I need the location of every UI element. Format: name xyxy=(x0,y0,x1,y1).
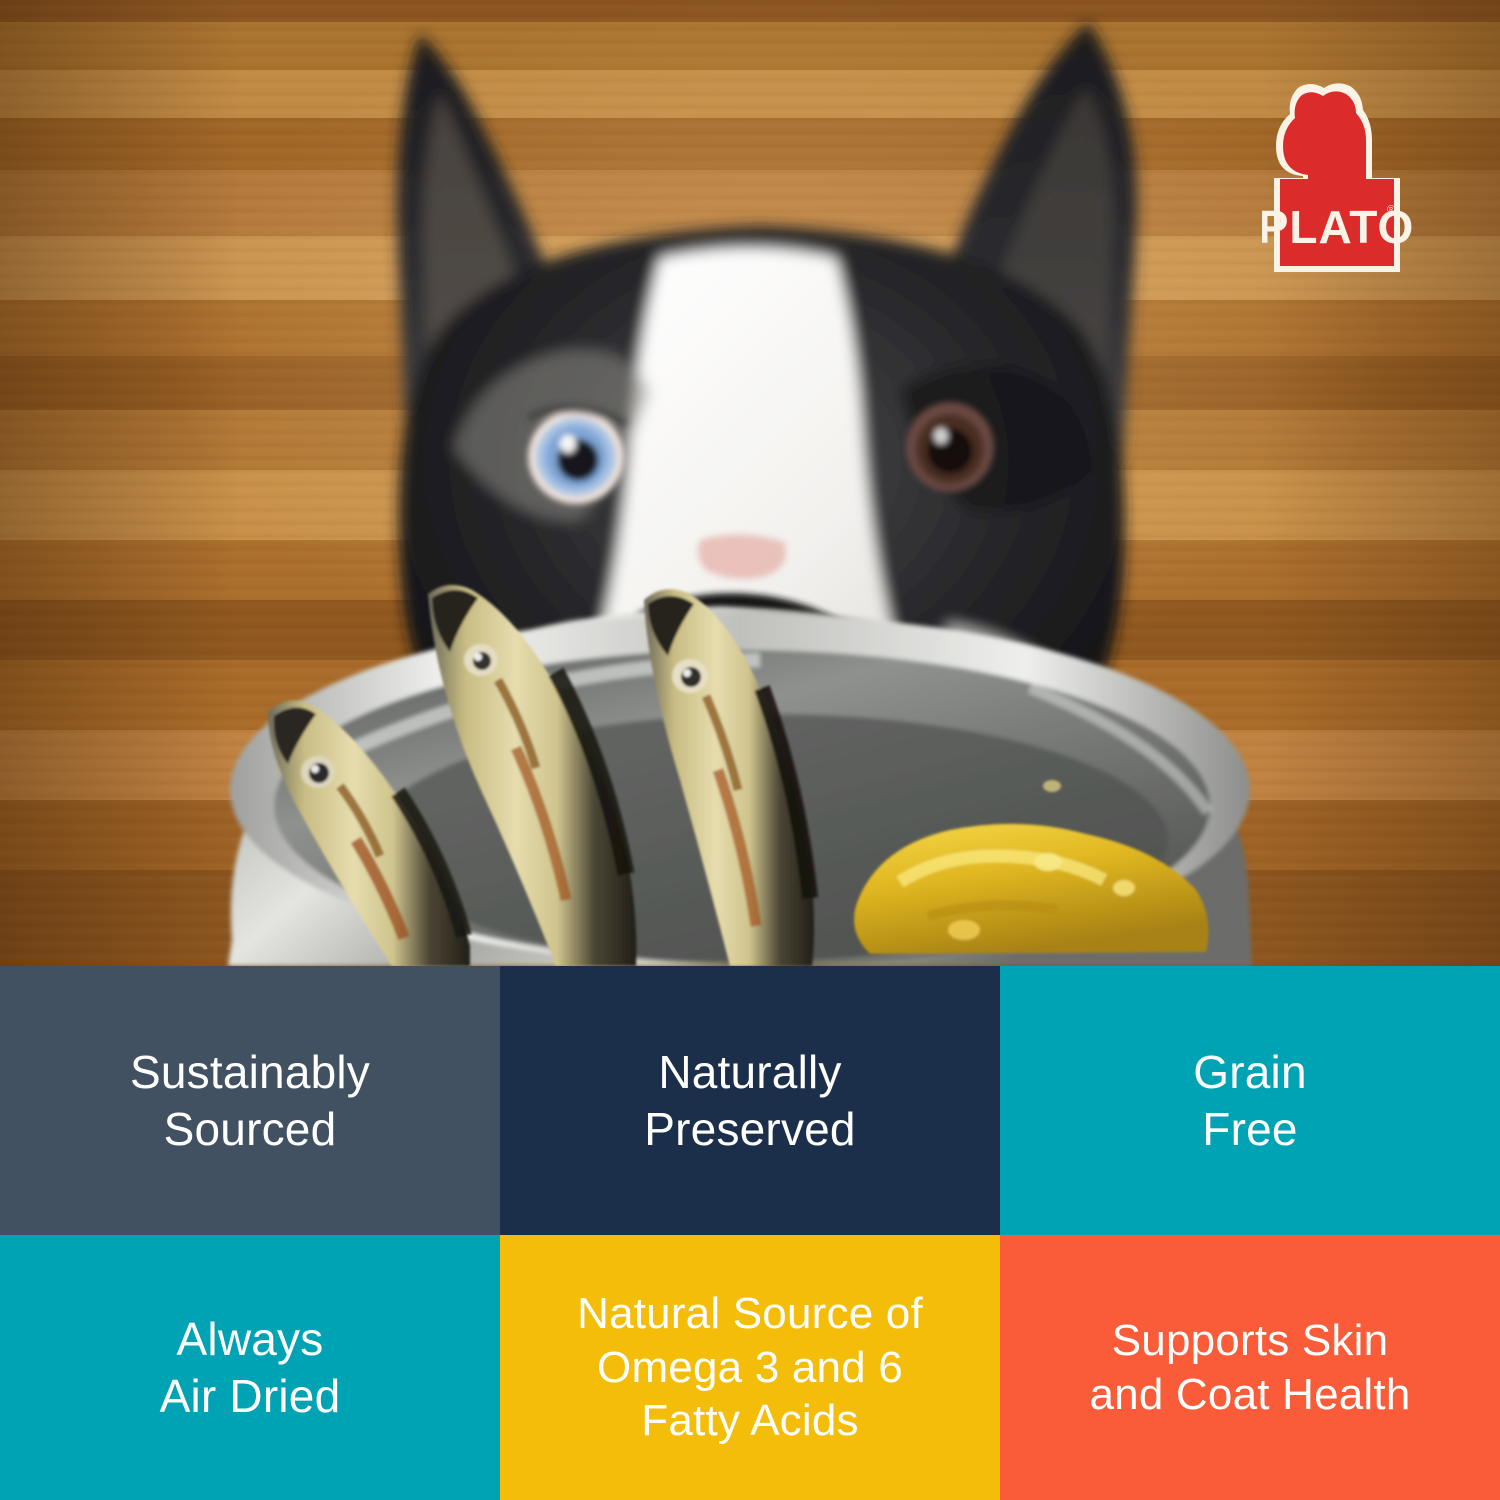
feature-text-supports-skin-and-coat-health: Supports Skin and Coat Health xyxy=(1090,1314,1411,1421)
product-feature-graphic: PLATO ® Sustainably Sourced Naturally Pr… xyxy=(0,0,1500,1500)
feature-text-sustainably-sourced: Sustainably Sourced xyxy=(130,1044,370,1156)
feature-text-omega-fatty-acids: Natural Source of Omega 3 and 6 Fatty Ac… xyxy=(577,1287,923,1448)
plato-logo-mark: PLATO ® xyxy=(1262,82,1412,278)
feature-panel-naturally-preserved: Naturally Preserved xyxy=(500,966,1000,1235)
feature-panel-sustainably-sourced: Sustainably Sourced xyxy=(0,966,500,1235)
feature-text-always-air-dried: Always Air Dried xyxy=(160,1311,341,1423)
feature-panel-grain-free: Grain Free xyxy=(1000,966,1500,1235)
product-photo: PLATO ® xyxy=(0,0,1500,966)
feature-panel-always-air-dried: Always Air Dried xyxy=(0,1235,500,1500)
plato-logo[interactable]: PLATO ® xyxy=(1262,82,1412,278)
feature-text-grain-free: Grain Free xyxy=(1193,1044,1306,1156)
feature-panel-omega-fatty-acids: Natural Source of Omega 3 and 6 Fatty Ac… xyxy=(500,1235,1000,1500)
registered-trademark-symbol: ® xyxy=(1387,204,1395,216)
feature-text-naturally-preserved: Naturally Preserved xyxy=(644,1044,855,1156)
feature-panel-supports-skin-and-coat-health: Supports Skin and Coat Health xyxy=(1000,1235,1500,1500)
feature-panel-grid: Sustainably Sourced Naturally Preserved … xyxy=(0,966,1500,1500)
